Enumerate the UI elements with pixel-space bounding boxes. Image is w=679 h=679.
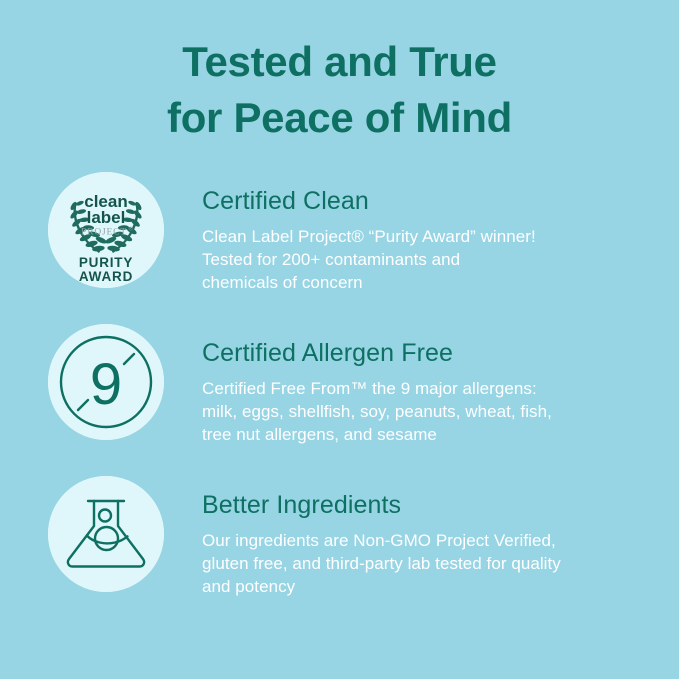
svg-text:label: label [87, 208, 126, 227]
feature-list: clean label PROJECT ® PURITY AWARD Certi… [0, 168, 679, 598]
svg-text:PROJECT: PROJECT [81, 228, 127, 238]
feature-desc-line: milk, eggs, shellfish, soy, peanuts, whe… [202, 400, 643, 423]
svg-text:®: ® [129, 226, 133, 233]
feature-desc-line: tree nut allergens, and sesame [202, 423, 643, 446]
feature-desc-line: Certified Free From™ the 9 major allerge… [202, 377, 643, 400]
clean-label-project-purity-award-badge-icon: clean label PROJECT ® PURITY AWARD [48, 172, 164, 288]
feature-description: Our ingredients are Non-GMO Project Veri… [202, 529, 643, 598]
feature-icon-container: clean label PROJECT ® PURITY AWARD [48, 168, 164, 288]
feature-text-container: Certified Clean Clean Label Project® “Pu… [164, 168, 643, 294]
feature-title: Certified Clean [202, 186, 643, 216]
feature-item-better-ingredients: Better Ingredients Our ingredients are N… [48, 472, 643, 598]
title-line-2: for Peace of Mind [0, 90, 679, 146]
feature-icon-container: 9 [48, 320, 164, 440]
feature-desc-line: Our ingredients are Non-GMO Project Veri… [202, 529, 643, 552]
page-title: Tested and True for Peace of Mind [0, 0, 679, 146]
feature-item-certified-clean: clean label PROJECT ® PURITY AWARD Certi… [48, 168, 643, 294]
feature-desc-line: gluten free, and third-party lab tested … [202, 552, 643, 575]
feature-text-container: Better Ingredients Our ingredients are N… [164, 472, 643, 598]
feature-text-container: Certified Allergen Free Certified Free F… [164, 320, 643, 446]
feature-description: Clean Label Project® “Purity Award” winn… [202, 225, 643, 294]
svg-text:AWARD: AWARD [79, 269, 133, 284]
title-line-1: Tested and True [0, 34, 679, 90]
feature-title: Certified Allergen Free [202, 338, 643, 368]
feature-description: Certified Free From™ the 9 major allerge… [202, 377, 643, 446]
feature-desc-line: Clean Label Project® “Purity Award” winn… [202, 225, 643, 248]
feature-item-certified-allergen-free: 9 Certified Allergen Free Certified Free… [48, 320, 643, 446]
feature-desc-line: and potency [202, 575, 643, 598]
svg-text:PURITY: PURITY [79, 255, 133, 270]
feature-desc-line: Tested for 200+ contaminants and [202, 248, 643, 271]
feature-icon-container [48, 472, 164, 592]
lab-flask-icon [48, 476, 164, 592]
nine-allergens-free-icon: 9 [48, 324, 164, 440]
feature-title: Better Ingredients [202, 490, 643, 520]
allergen-count-number: 9 [90, 352, 122, 417]
promo-panel: Tested and True for Peace of Mind [0, 0, 679, 679]
feature-desc-line: chemicals of concern [202, 271, 643, 294]
